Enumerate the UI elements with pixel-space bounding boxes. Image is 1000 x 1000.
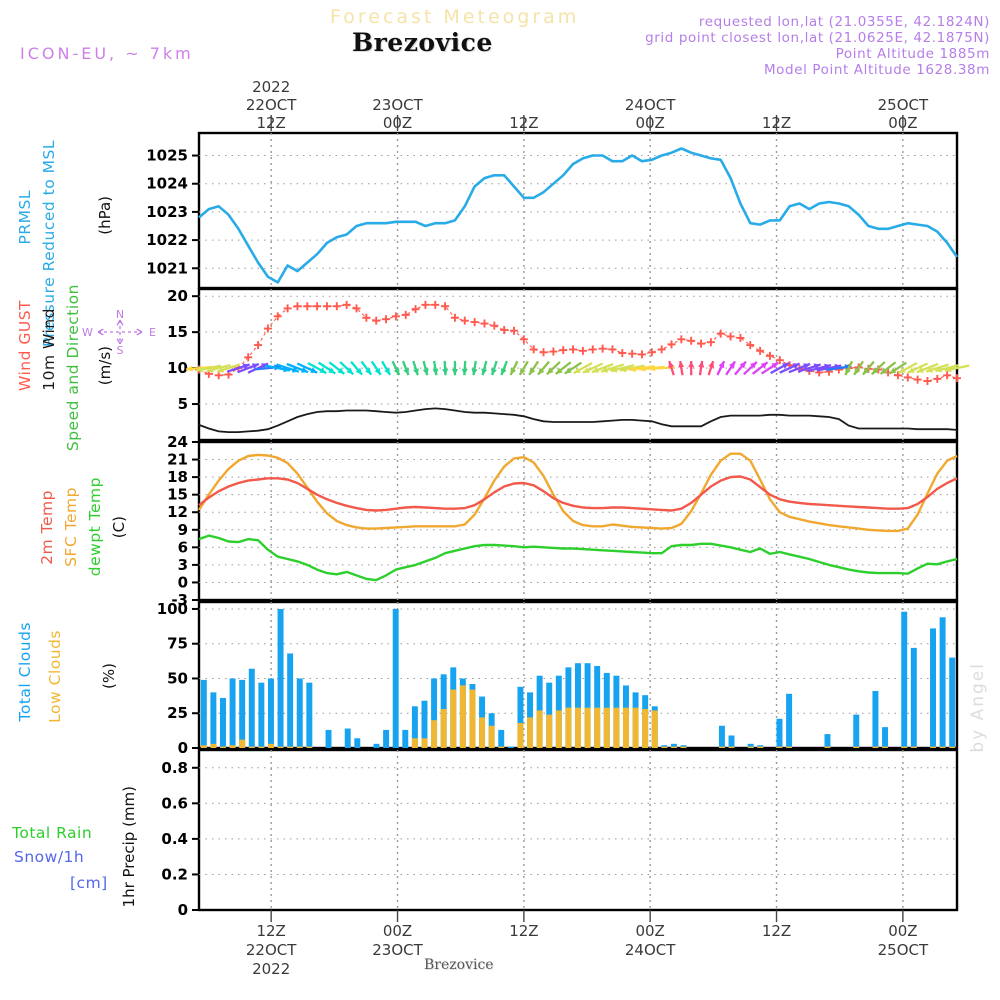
wind-gust-marker [923, 377, 931, 385]
total-clouds-bar [306, 683, 312, 748]
low-clouds-bar [786, 747, 792, 748]
wind-gust-marker [618, 349, 626, 357]
low-clouds-bar [911, 747, 917, 748]
wind-gust-marker [599, 345, 607, 353]
low-clouds-bar [220, 747, 226, 748]
wind-gust-marker [677, 335, 685, 343]
svg-text:12: 12 [167, 503, 188, 521]
compass-label: S [117, 344, 124, 357]
low-clouds-bar [777, 747, 783, 748]
low-clouds-bar [556, 710, 562, 748]
low-clouds-bar [498, 747, 504, 748]
wind-gust-marker [589, 345, 597, 353]
dewpt-temp-series [199, 536, 957, 581]
svg-text:2022: 2022 [252, 78, 290, 96]
total-clouds-bar [393, 609, 399, 748]
svg-text:0.4: 0.4 [161, 830, 188, 848]
svg-text:23OCT: 23OCT [372, 96, 423, 114]
svg-text:1023: 1023 [146, 203, 188, 221]
wind-gust-marker [431, 301, 439, 309]
total-clouds-bar [326, 730, 332, 748]
wind-gust-marker [697, 340, 705, 348]
wind-gust-marker [451, 314, 459, 322]
panel-frame-prmsl [199, 133, 957, 288]
svg-text:12Z: 12Z [256, 922, 285, 940]
panel-frame-precip [199, 750, 957, 910]
svg-text:1021: 1021 [146, 259, 188, 277]
wind-gust-marker [687, 337, 695, 345]
wind-gust-marker [323, 302, 331, 310]
total-clouds-bar [268, 678, 274, 748]
low-clouds-bar [940, 747, 946, 748]
total-clouds-bar [220, 698, 226, 748]
low-clouds-bar [575, 708, 581, 748]
wind-gust-marker [707, 338, 715, 346]
total-clouds-bar [508, 747, 514, 748]
low-clouds-bar [661, 747, 667, 748]
wind-gust-marker [943, 371, 951, 379]
total-clouds-bar [230, 678, 236, 748]
svg-text:6: 6 [178, 538, 188, 556]
wind-gust-marker [480, 320, 488, 328]
low-clouds-bar [287, 747, 293, 748]
wind-gust-marker [628, 350, 636, 358]
svg-text:12Z: 12Z [509, 114, 538, 132]
svg-text:1024: 1024 [146, 175, 188, 193]
svg-text:15: 15 [167, 486, 188, 504]
svg-text:0.2: 0.2 [161, 865, 188, 883]
svg-text:22OCT: 22OCT [246, 96, 297, 114]
low-clouds-bar [585, 708, 591, 748]
svg-text:10: 10 [167, 359, 188, 377]
wind-gust-marker [372, 317, 380, 325]
low-clouds-bar [469, 690, 475, 748]
low-clouds-bar [297, 747, 303, 748]
low-clouds-bar [441, 709, 447, 748]
wind-gust-marker [412, 305, 420, 313]
low-clouds-bar [527, 717, 533, 748]
total-clouds-bar [882, 727, 888, 748]
total-clouds-bar [354, 738, 360, 748]
wind-gust-marker [293, 302, 301, 310]
low-clouds-bar [450, 690, 456, 748]
wind-direction-arrowhead [491, 368, 497, 375]
low-clouds-bar [537, 710, 543, 748]
wind-gust-marker [343, 301, 351, 309]
total-clouds-bar [824, 734, 830, 748]
wind-gust-marker [490, 322, 498, 330]
svg-text:12Z: 12Z [509, 922, 538, 940]
wind-gust-marker [569, 345, 577, 353]
total-clouds-bar [210, 692, 216, 748]
wind-gust-marker [766, 352, 774, 360]
total-clouds-bar [374, 744, 380, 748]
svg-text:24OCT: 24OCT [625, 941, 676, 959]
wind-gust-marker [540, 348, 548, 356]
svg-text:24OCT: 24OCT [625, 96, 676, 114]
low-clouds-bar [210, 744, 216, 748]
wind-gust-marker [638, 350, 646, 358]
low-clouds-bar [748, 747, 754, 748]
total-clouds-bar [901, 612, 907, 748]
svg-text:0.8: 0.8 [161, 759, 188, 777]
low-clouds-bar [642, 709, 648, 748]
wind-gust-marker [668, 340, 676, 348]
wind-gust-marker [608, 345, 616, 353]
svg-text:25OCT: 25OCT [878, 941, 929, 959]
low-clouds-bar [930, 747, 936, 748]
low-clouds-bar [422, 738, 428, 748]
wind-gust-marker [549, 348, 557, 356]
low-clouds-bar [671, 747, 677, 748]
low-clouds-bar [872, 747, 878, 748]
low-clouds-bar [546, 715, 552, 748]
svg-text:25OCT: 25OCT [878, 96, 929, 114]
low-clouds-bar [594, 708, 600, 748]
svg-text:0: 0 [178, 573, 188, 591]
total-clouds-bar [786, 694, 792, 748]
wind-gust-marker [746, 341, 754, 349]
low-clouds-bar [517, 723, 523, 748]
total-clouds-bar [498, 730, 504, 748]
svg-text:15: 15 [167, 323, 188, 341]
low-clouds-bar [479, 717, 485, 748]
low-clouds-bar [757, 747, 763, 748]
total-clouds-bar [297, 678, 303, 748]
wind-gust-marker [658, 345, 666, 353]
svg-text:12Z: 12Z [256, 114, 285, 132]
total-clouds-bar [940, 617, 946, 748]
low-clouds-bar [239, 740, 245, 748]
low-clouds-bar [901, 747, 907, 748]
wind-direction-arrowhead [462, 369, 468, 375]
svg-text:75: 75 [167, 635, 188, 653]
total-clouds-bar [383, 730, 389, 748]
total-clouds-bar [777, 719, 783, 748]
low-clouds-bar [278, 747, 284, 748]
prmsl-series [199, 149, 957, 283]
compass-label: E [149, 326, 156, 339]
total-clouds-bar [853, 715, 859, 748]
total-clouds-bar [239, 680, 245, 748]
svg-text:1025: 1025 [146, 147, 188, 165]
low-clouds-bar [489, 726, 495, 748]
svg-text:00Z: 00Z [383, 922, 412, 940]
wind-gust-marker [717, 330, 725, 338]
low-clouds-bar [460, 685, 466, 748]
low-clouds-bar [681, 747, 687, 748]
wind-gust-marker [933, 375, 941, 383]
low-clouds-bar [824, 747, 830, 748]
wind-gust-marker [756, 347, 764, 355]
wind-direction-arrowhead [452, 369, 458, 375]
low-clouds-bar [431, 720, 437, 748]
total-clouds-bar [930, 628, 936, 748]
wind-gust-marker [333, 302, 341, 310]
svg-text:20: 20 [167, 287, 188, 305]
svg-text:2022: 2022 [252, 960, 290, 978]
wind-gust-marker [727, 332, 735, 340]
wind-gust-marker [421, 301, 429, 309]
wind-gust-marker [303, 302, 311, 310]
wind-gust-marker [471, 318, 479, 326]
low-clouds-bar [230, 745, 236, 748]
svg-text:00Z: 00Z [383, 114, 412, 132]
wind10m-series [199, 408, 957, 432]
low-clouds-bar [604, 708, 610, 748]
total-clouds-bar [249, 669, 255, 748]
total-clouds-bar [278, 609, 284, 748]
low-clouds-bar [258, 747, 264, 748]
svg-text:00Z: 00Z [888, 922, 917, 940]
low-clouds-bar [719, 747, 725, 748]
total-clouds-bar [949, 658, 955, 748]
wind-gust-marker [736, 334, 744, 342]
svg-text:21: 21 [167, 451, 188, 469]
wind-gust-marker [904, 373, 912, 381]
low-clouds-bar [633, 708, 639, 748]
low-clouds-bar [249, 747, 255, 748]
svg-text:00Z: 00Z [635, 922, 664, 940]
low-clouds-bar [623, 708, 629, 748]
wind-gust-marker [500, 326, 508, 334]
total-clouds-bar [719, 726, 725, 748]
svg-text:0: 0 [178, 739, 188, 757]
low-clouds-bar [949, 747, 955, 748]
total-clouds-bar [911, 648, 917, 748]
svg-text:12Z: 12Z [762, 114, 791, 132]
svg-text:25: 25 [167, 704, 188, 722]
wind-gust-marker [461, 317, 469, 325]
total-clouds-bar [402, 730, 408, 748]
svg-text:24: 24 [167, 433, 188, 451]
wind-gust-marker [953, 374, 961, 382]
low-clouds-bar [268, 744, 274, 748]
wind-gust-marker [559, 346, 567, 354]
compass-label: N [116, 308, 124, 321]
wind-gust-marker [402, 311, 410, 319]
svg-text:50: 50 [167, 669, 188, 687]
wind-gust-marker [648, 348, 656, 356]
svg-text:5: 5 [178, 395, 188, 413]
low-clouds-bar [882, 747, 888, 748]
low-clouds-bar [565, 708, 571, 748]
wind-compass-rose: NSWE [82, 308, 156, 357]
svg-text:12Z: 12Z [762, 922, 791, 940]
wind-direction-arrowhead [688, 361, 694, 367]
svg-text:100: 100 [157, 600, 188, 618]
svg-text:0.6: 0.6 [161, 794, 188, 812]
wind-gust-marker [579, 347, 587, 355]
total-clouds-bar [872, 691, 878, 748]
wind-gust-marker [313, 302, 321, 310]
low-clouds-bar [613, 708, 619, 748]
wind-direction-arrowhead [708, 361, 714, 368]
svg-text:9: 9 [178, 521, 188, 539]
svg-text:1022: 1022 [146, 231, 188, 249]
wind-gust-marker [215, 371, 223, 379]
low-clouds-bar [412, 738, 418, 748]
total-clouds-bar [345, 729, 351, 748]
panel-frame-temp [199, 442, 957, 600]
total-clouds-bar [201, 680, 207, 748]
low-clouds-bar [729, 747, 735, 748]
wind-gust-marker [914, 376, 922, 384]
svg-text:23OCT: 23OCT [372, 941, 423, 959]
svg-text:3: 3 [178, 556, 188, 574]
svg-text:22OCT: 22OCT [246, 941, 297, 959]
svg-text:00Z: 00Z [635, 114, 664, 132]
svg-text:00Z: 00Z [888, 114, 917, 132]
low-clouds-bar [306, 747, 312, 748]
total-clouds-bar [287, 653, 293, 748]
low-clouds-bar [853, 747, 859, 748]
compass-label: W [82, 326, 93, 339]
total-clouds-bar [729, 735, 735, 748]
low-clouds-bar [652, 710, 658, 748]
meteogram-chart: 12Z22OCT202200Z23OCT12Z00Z24OCT12Z00Z25O… [0, 0, 1000, 1000]
wind-direction-arrowhead [442, 369, 448, 375]
svg-text:0: 0 [178, 901, 188, 919]
total-clouds-bar [258, 683, 264, 748]
low-clouds-bar [201, 745, 207, 748]
wind-direction-arrowhead [413, 368, 419, 375]
wind-gust-marker [392, 312, 400, 320]
svg-text:18: 18 [167, 468, 188, 486]
wind-gust-marker [382, 315, 390, 323]
